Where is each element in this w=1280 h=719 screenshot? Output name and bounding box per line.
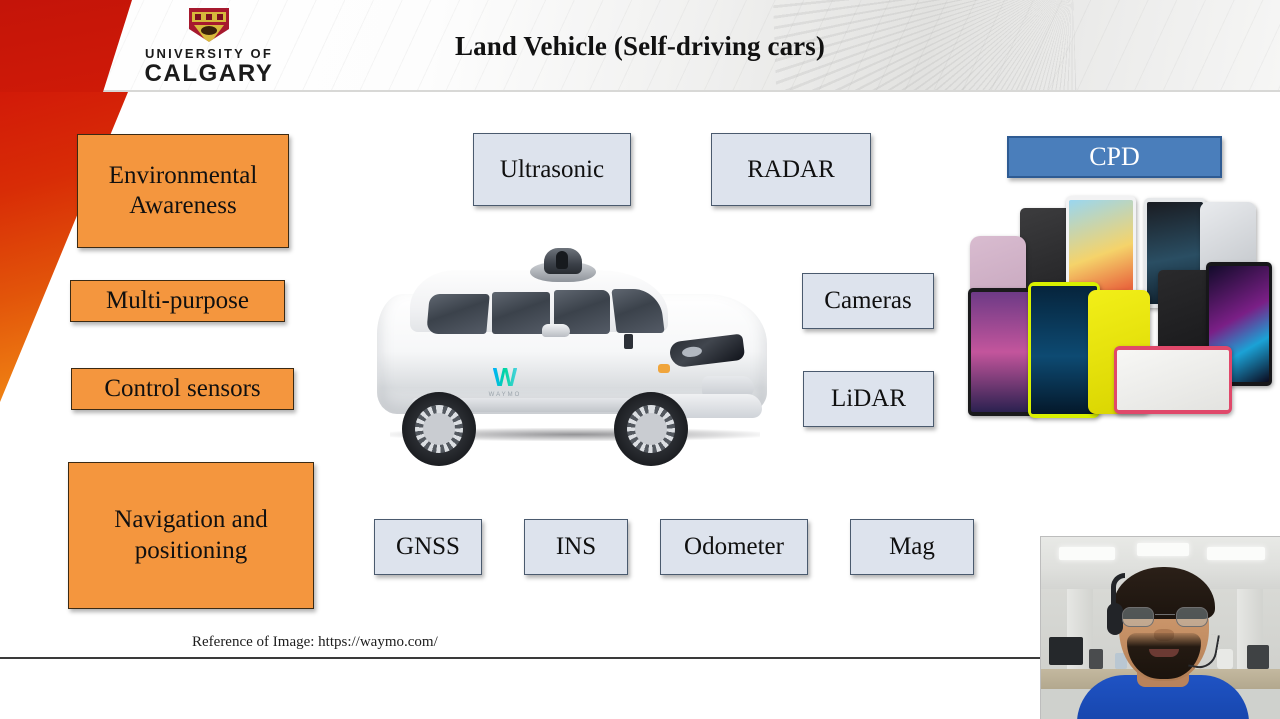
crest-chief-band (192, 12, 226, 22)
image-reference-caption: Reference of Image: https://waymo.com/ (192, 634, 438, 651)
shield-crest-icon (189, 8, 229, 42)
smartphone-collage-image (962, 186, 1278, 436)
university-logo-line2: CALGARY (145, 61, 274, 86)
concept-box-control-sensors[interactable]: Control sensors (71, 368, 294, 410)
concept-box-label: Multi-purpose (106, 286, 249, 317)
webcam-ceiling-light (1059, 547, 1115, 560)
sensor-box-lidar[interactable]: LiDAR (803, 371, 934, 427)
webcam-ceiling-light (1207, 547, 1265, 560)
concept-box-label: Navigation and positioning (69, 505, 313, 566)
sensor-box-label: LiDAR (831, 385, 906, 413)
headset-band-icon (1111, 573, 1125, 607)
vehicle-front-wheel (614, 392, 688, 466)
university-logo: UNIVERSITY OF CALGARY (143, 8, 275, 86)
sensor-box-label: Ultrasonic (500, 156, 604, 184)
concept-box-environmental-awareness[interactable]: Environmental Awareness (77, 134, 289, 248)
vehicle-rear-wheel (402, 392, 476, 466)
sensor-box-mag[interactable]: Mag (850, 519, 974, 575)
webcam-desk-object (1247, 645, 1269, 669)
sensor-box-label: RADAR (747, 156, 835, 184)
vehicle-window-rear (426, 294, 489, 334)
waymo-logo-icon: W WAYMO (484, 364, 526, 398)
phone-pink-map (1114, 346, 1232, 414)
webcam-desk-object (1089, 649, 1103, 669)
sensor-box-cameras[interactable]: Cameras (802, 273, 934, 329)
sensor-box-label: CPD (1089, 142, 1140, 172)
concept-box-label: Control sensors (104, 374, 260, 405)
sensor-box-label: GNSS (396, 533, 460, 561)
vehicle-lidar-dome-icon (544, 248, 582, 274)
slide-canvas: UNIVERSITY OF CALGARY Land Vehicle (Self… (0, 0, 1280, 719)
webcam-desk-object (1217, 649, 1233, 669)
vehicle-side-mirror (542, 324, 570, 337)
sensor-box-gnss[interactable]: GNSS (374, 519, 482, 575)
sensor-box-label: Cameras (824, 287, 911, 315)
webcam-ceiling-light (1137, 543, 1189, 556)
webcam-monitor (1049, 637, 1083, 665)
webcam-presenter-mouth (1149, 649, 1179, 657)
presenter-webcam-video[interactable] (1040, 536, 1280, 719)
page-title: Land Vehicle (Self-driving cars) (330, 31, 950, 62)
crest-chevron (194, 25, 224, 45)
eyeglasses-icon (1121, 607, 1209, 627)
sensor-box-cpd[interactable]: CPD (1007, 136, 1222, 178)
sensor-box-label: Odometer (684, 533, 784, 561)
concept-box-label: Environmental Awareness (78, 161, 288, 222)
sensor-box-ultrasonic[interactable]: Ultrasonic (473, 133, 631, 206)
concept-box-navigation-and-positioning[interactable]: Navigation and positioning (68, 462, 314, 609)
sensor-box-label: Mag (889, 533, 935, 561)
self-driving-vehicle-image: W WAYMO (352, 246, 796, 468)
university-logo-line1: UNIVERSITY OF (145, 46, 273, 61)
vehicle-side-sensor (624, 334, 633, 349)
sensor-box-label: INS (556, 533, 596, 561)
sensor-box-radar[interactable]: RADAR (711, 133, 871, 206)
header-divider (0, 90, 1280, 92)
concept-box-multi-purpose[interactable]: Multi-purpose (70, 280, 285, 322)
sensor-box-ins[interactable]: INS (524, 519, 628, 575)
vehicle-turn-signal (658, 364, 670, 373)
sensor-box-odometer[interactable]: Odometer (660, 519, 808, 575)
